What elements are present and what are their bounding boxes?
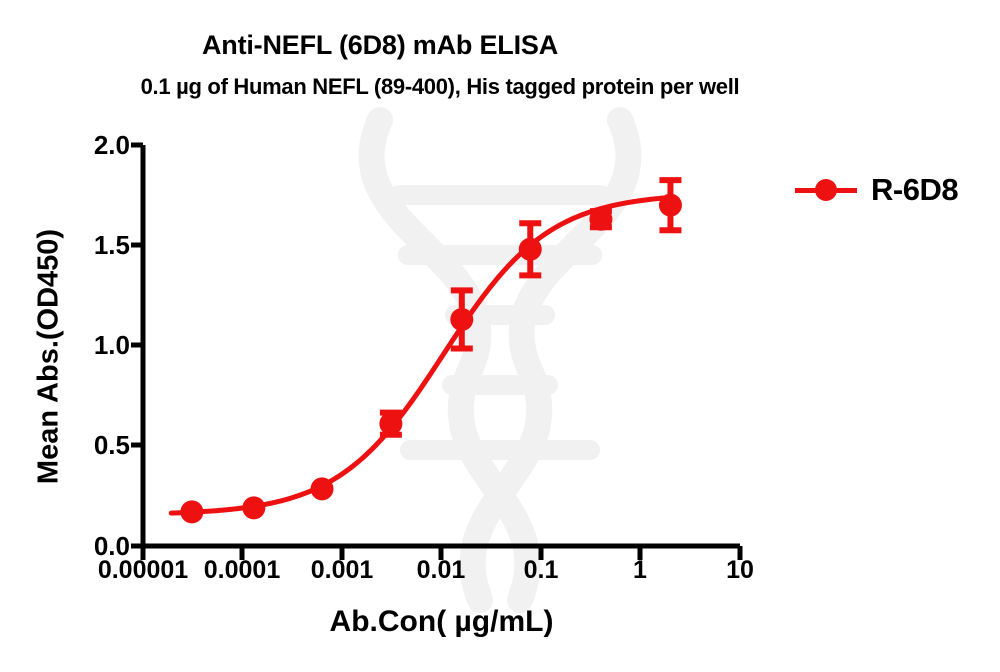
xtick-label: 10 <box>726 556 754 584</box>
y-axis-title: Mean Abs.(OD450) <box>33 142 66 572</box>
data-point <box>659 194 682 217</box>
dna-watermark <box>372 120 629 600</box>
data-point <box>519 238 542 261</box>
plot-area: 2.0 1.5 1.0 0.5 0.0 0.00001 0.0001 0.001… <box>0 0 1000 672</box>
data-point <box>180 500 203 523</box>
chart-page: Anti-NEFL (6D8) mAb ELISA 0.1 µg of Huma… <box>0 0 1000 672</box>
xtick-label: 0.00001 <box>98 556 188 584</box>
legend-label: R-6D8 <box>871 172 958 208</box>
xtick-label: 0.01 <box>417 556 466 584</box>
xtick-label: 0.001 <box>311 556 374 584</box>
data-point <box>311 477 334 500</box>
xtick-label: 1 <box>633 556 647 584</box>
legend-marker-r-6d8 <box>795 179 857 201</box>
data-point <box>589 208 612 231</box>
x-axis-title: Ab.Con( µg/mL) <box>143 605 740 639</box>
legend-dot-icon <box>815 179 837 201</box>
xtick-label: 0.0001 <box>204 556 280 584</box>
data-point <box>242 496 265 519</box>
legend: R-6D8 <box>795 172 958 208</box>
axis-lines <box>131 145 740 560</box>
data-point <box>379 412 402 435</box>
xtick-10: 10 <box>680 556 800 585</box>
data-point <box>450 308 473 331</box>
xtick-label: 0.1 <box>524 556 559 584</box>
